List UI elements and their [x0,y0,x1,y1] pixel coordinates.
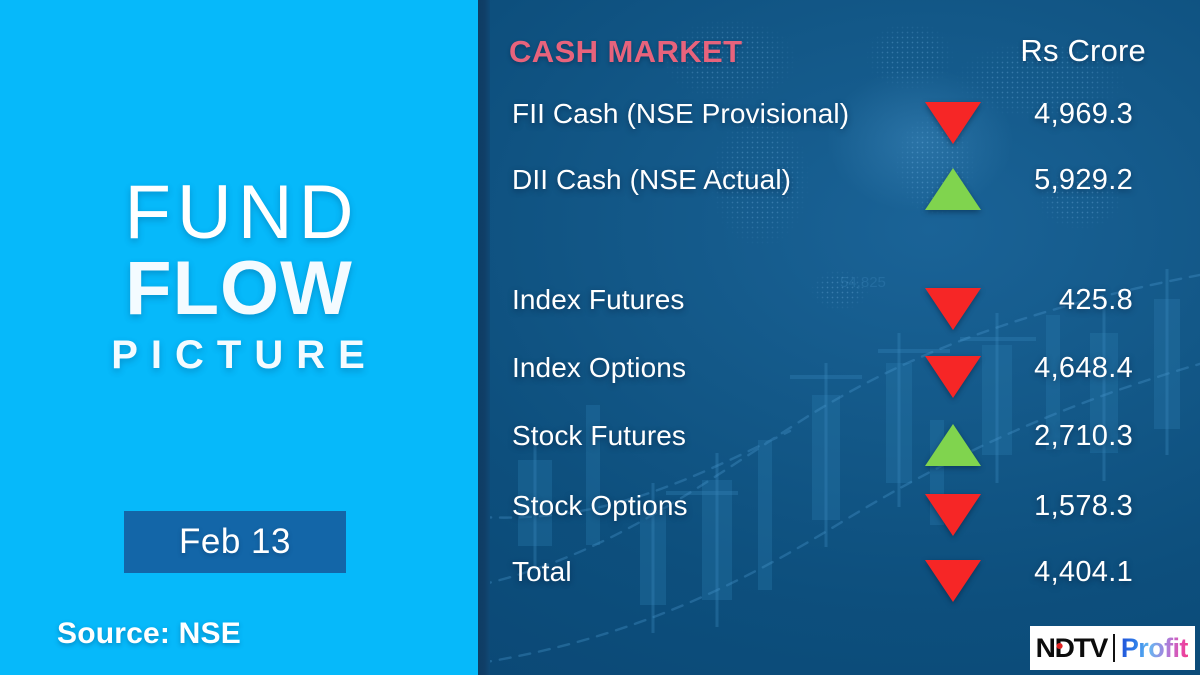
row-value: 2,710.3 [1034,420,1133,453]
table-row: DII Cash (NSE Actual) 5,929.2 [490,164,1200,214]
table-row: Stock Futures 2,710.3 [490,420,1200,470]
logo-ndtv-text: NDTV [1036,633,1107,664]
left-title-panel: FUND FLOW PICTURE Feb 13 Source: NSE [0,0,478,675]
section-title: CASH MARKET [509,34,742,70]
table-row: FII Cash (NSE Provisional) 4,969.3 [490,98,1200,148]
row-value: 4,969.3 [1034,98,1133,131]
unit-label: Rs Crore [1020,33,1146,69]
logo-separator [1113,634,1115,662]
fund-flow-table: CASH MARKET Rs Crore FII Cash (NSE Provi… [490,0,1200,675]
triangle-down-icon [925,560,981,602]
row-label: Index Futures [512,284,685,316]
row-label: Stock Futures [512,420,686,452]
row-label: FII Cash (NSE Provisional) [512,98,849,130]
triangle-down-icon [925,102,981,144]
table-header-row: CASH MARKET Rs Crore [490,34,1200,78]
row-value: 4,404.1 [1034,556,1133,589]
date-badge-label: Feb 13 [179,522,291,562]
triangle-down-icon [925,494,981,536]
brand-line-fund: FUND [6,176,478,250]
data-panel: 54,825 CASH MARKET Rs Crore FII Cash (NS… [490,0,1200,675]
source-label: Source: NSE [57,617,241,651]
row-value: 425.8 [1059,284,1133,317]
row-label: DII Cash (NSE Actual) [512,164,791,196]
triangle-up-icon [925,424,981,466]
row-label: Index Options [512,352,686,384]
panel-divider [478,0,490,675]
row-value: 5,929.2 [1034,164,1133,197]
brand-title: FUND FLOW PICTURE [0,176,478,375]
table-row: Index Futures 425.8 [490,284,1200,334]
table-row: Index Options 4,648.4 [490,352,1200,402]
fund-flow-graphic: FUND FLOW PICTURE Feb 13 Source: NSE [0,0,1200,675]
row-value: 1,578.3 [1034,490,1133,523]
triangle-up-icon [925,168,981,210]
logo-profit-text: Profit [1121,633,1188,664]
brand-line-flow: FLOW [0,252,478,326]
row-label: Stock Options [512,490,688,522]
brand-line-picture: PICTURE [11,336,478,375]
ndtv-profit-logo: NDTV Profit [1030,626,1195,670]
row-label: Total [512,556,572,588]
triangle-down-icon [925,288,981,330]
table-row: Stock Options 1,578.3 [490,490,1200,540]
row-value: 4,648.4 [1034,352,1133,385]
table-row: Total 4,404.1 [490,556,1200,606]
date-badge: Feb 13 [124,511,346,573]
triangle-down-icon [925,356,981,398]
